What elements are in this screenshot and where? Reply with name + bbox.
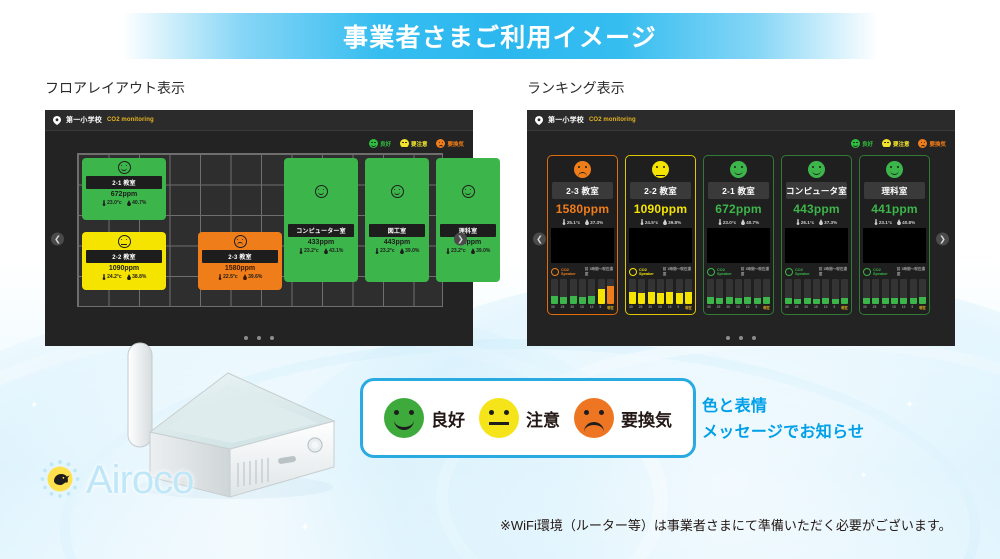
ranking-card[interactable]: コンピュータ室443ppm26.1°c37.3%CO2 Speaker前 1時間…: [781, 155, 852, 315]
chart-bar: [763, 279, 770, 303]
message-line-1: 色と表情: [702, 394, 864, 420]
chart-x-label: 15: [892, 305, 896, 310]
floor-status-legend: 良好 要注意 要換気: [369, 139, 464, 148]
face-legend-ventilate: 要換気: [574, 398, 672, 438]
droplet-icon: [741, 219, 745, 225]
co2-ring-icon: [629, 268, 637, 276]
co2-ring-icon: [707, 268, 715, 276]
chart-x-label: 15: [658, 305, 662, 310]
chart-x-label: 20: [882, 305, 886, 310]
chart-x-label: 15: [814, 305, 818, 310]
ranking-room-name: コンピュータ室: [786, 182, 847, 199]
chart-bar: [598, 279, 605, 303]
room-camera-thumbnail: [551, 228, 614, 263]
room-card-computer[interactable]: コンピューター室 433ppm 23.2°c 43.1%: [284, 158, 358, 282]
ranking-humidity: 39.8%: [663, 219, 681, 225]
chart-x-label: 現在: [685, 305, 692, 310]
panel-header-floor: 第一小学校 CO2 monitoring: [45, 110, 473, 131]
ranking-card[interactable]: 理科室441ppm23.1°c40.8%CO2 Speaker前 1時間～現在濃…: [859, 155, 930, 315]
thermometer-icon: [446, 248, 450, 254]
page-title: 事業者さまご利用イメージ: [343, 18, 657, 54]
chart-x-label: 30: [785, 305, 789, 310]
neutral-face-icon: [400, 139, 409, 148]
room-humidity: 40.7%: [127, 200, 147, 206]
chart-x-label: 30: [863, 305, 867, 310]
room-temperature: 23.2°c: [446, 248, 466, 254]
face-legend-label: 注意: [526, 406, 560, 431]
room-temperature: 23.2°c: [299, 248, 319, 254]
panel-subtitle-rank: CO2 monitoring: [589, 117, 636, 123]
room-camera-thumbnail: [707, 228, 770, 263]
chart-bar: [822, 279, 829, 303]
chart-range-label: 前 1時間～現在濃度: [585, 267, 614, 277]
ranking-humidity: 37.3%: [585, 219, 603, 225]
carousel-dot[interactable]: [752, 336, 756, 340]
smile-face-icon: [808, 161, 825, 178]
chart-bar: [872, 279, 879, 303]
bird-badge-icon: [38, 459, 82, 503]
location-pin-icon: [53, 116, 61, 124]
co2-ring-icon: [785, 268, 793, 276]
thermometer-icon: [102, 274, 106, 280]
room-card-art[interactable]: 図工室 443ppm 23.2°c 39.0%: [365, 158, 429, 282]
room-ppm: 443ppm: [384, 239, 410, 246]
legend-item-good: 良好: [851, 139, 873, 148]
legend-label-caution: 要注意: [411, 140, 428, 148]
carousel-next-rank[interactable]: ❯: [936, 233, 949, 246]
chart-x-label: 15: [736, 305, 740, 310]
legend-label-caution: 要注意: [893, 140, 910, 148]
chart-x-label: 10: [824, 305, 828, 310]
co2-ring-icon: [863, 268, 871, 276]
chart-range-label: 前 1時間～現在濃度: [741, 267, 770, 277]
chart-bar: [832, 279, 839, 303]
ranking-status-legend: 良好 要注意 要換気: [851, 139, 946, 148]
smile-face-icon: [384, 398, 424, 438]
chart-bar: [716, 279, 723, 303]
room-ppm: 1580ppm: [225, 265, 255, 272]
legend-item-good: 良好: [369, 139, 391, 148]
smile-face-icon: [315, 185, 328, 198]
ranking-temperature: 26.1°c: [796, 219, 814, 225]
chart-bar: [744, 279, 751, 303]
chart-x-label: 現在: [841, 305, 848, 310]
room-card-2-3[interactable]: 2-3 教室 1580ppm 22.5°c 39.6%: [198, 232, 282, 290]
chart-range-label: 前 1時間～現在濃度: [897, 267, 926, 277]
chart-bar: [841, 279, 848, 303]
message-line-2: メッセージでお知らせ: [702, 420, 864, 446]
chart-label: CO2 Speaker: [561, 268, 583, 276]
chart-label: CO2 Speaker: [873, 268, 895, 276]
droplet-icon: [897, 219, 901, 225]
chart-bar: [726, 279, 733, 303]
chart-x-label: 20: [648, 305, 652, 310]
room-camera-thumbnail: [785, 228, 848, 263]
chart-x-label: 10: [746, 305, 750, 310]
co2-history-bar-chart: [551, 279, 614, 303]
chart-bar: [638, 279, 645, 303]
droplet-icon: [585, 219, 589, 225]
chart-bar: [882, 279, 889, 303]
room-humidity: 39.0%: [471, 248, 491, 254]
thermometer-icon: [218, 274, 222, 280]
chart-bar: [785, 279, 792, 303]
smile-face-icon: [118, 161, 131, 174]
chart-x-axis: 30252015105現在: [629, 305, 692, 310]
chart-label: CO2 Speaker: [795, 268, 817, 276]
carousel-next-floor[interactable]: ❯: [454, 233, 467, 246]
droplet-icon: [471, 248, 475, 254]
legend-label-ventilate: 要換気: [447, 140, 464, 148]
carousel-prev-floor[interactable]: ❮: [51, 233, 64, 246]
chart-bar: [707, 279, 714, 303]
chart-bar: [579, 279, 586, 303]
chart-x-label: 現在: [607, 305, 614, 310]
ranking-temperature: 25.1°c: [562, 219, 580, 225]
chart-bar: [804, 279, 811, 303]
chart-range-label: 前 1時間～現在濃度: [663, 267, 692, 277]
room-name: 図工室: [369, 224, 425, 237]
panel-header-rank: 第一小学校 CO2 monitoring: [527, 110, 955, 131]
co2-history-bar-chart: [863, 279, 926, 303]
chart-x-label: 20: [570, 305, 574, 310]
room-name: 2-2 教室: [86, 250, 162, 263]
ranking-room-name: 理科室: [864, 182, 925, 199]
chart-bar: [900, 279, 907, 303]
smile-face-icon: [391, 185, 404, 198]
chart-bar: [676, 279, 683, 303]
ranking-ppm-value: 443ppm: [793, 202, 840, 216]
ranking-temperature: 23.0°c: [718, 219, 736, 225]
footer-note: ※WiFi環境（ルーター等）は事業者さまにて準備いただく必要がございます。: [500, 515, 952, 534]
room-humidity: 39.6%: [243, 274, 263, 280]
frown-face-icon: [436, 139, 445, 148]
chart-label: CO2 Speaker: [639, 268, 661, 276]
room-camera-thumbnail: [629, 228, 692, 263]
ranking-humidity: 37.3%: [819, 219, 837, 225]
ranking-humidity: 40.7%: [741, 219, 759, 225]
face-legend-box: 良好 注意 要換気: [360, 378, 696, 458]
floor-panel-body: 良好 要注意 要換気 2-1 教室 672ppm 23.0°c 40.7%: [45, 131, 473, 347]
chart-bar: [629, 279, 636, 303]
room-temperature: 24.2°c: [102, 274, 122, 280]
ranking-room-name: 2-2 教室: [630, 182, 691, 199]
notification-message: 色と表情 メッセージでお知らせ: [702, 394, 864, 446]
location-pin-icon: [535, 116, 543, 124]
room-ppm: 1090ppm: [109, 265, 139, 272]
chart-x-label: 5: [833, 305, 835, 310]
neutral-face-icon: [118, 235, 131, 248]
floor-layout-section-label: フロアレイアウト表示: [45, 78, 185, 98]
chart-x-label: 30: [629, 305, 633, 310]
carousel-prev-rank[interactable]: ❮: [533, 233, 546, 246]
school-name-rank: 第一小学校: [548, 115, 584, 125]
legend-label-good: 良好: [380, 140, 391, 148]
chart-x-label: 30: [707, 305, 711, 310]
chart-x-label: 10: [590, 305, 594, 310]
droplet-icon: [127, 200, 131, 206]
airoco-logo: Airoco: [38, 458, 193, 503]
chart-bar: [648, 279, 655, 303]
chart-range-label: 前 1時間～現在濃度: [819, 267, 848, 277]
room-card-2-1[interactable]: 2-1 教室 672ppm 23.0°c 40.7%: [82, 158, 166, 220]
floor-layout-panel: 第一小学校 CO2 monitoring 良好 要注意 要換気 2-1 教室 6…: [45, 110, 473, 346]
chart-x-label: 20: [726, 305, 730, 310]
ranking-ppm-value: 441ppm: [871, 202, 918, 216]
ranking-room-name: 2-3 教室: [552, 182, 613, 199]
chart-x-axis: 30252015105現在: [785, 305, 848, 310]
room-ppm: 672ppm: [111, 191, 137, 198]
thermometer-icon: [562, 219, 566, 225]
droplet-icon: [663, 219, 667, 225]
smile-face-icon: [730, 161, 747, 178]
chart-x-axis: 30252015105現在: [707, 305, 770, 310]
chart-bar: [588, 279, 595, 303]
room-name: 理科室: [440, 224, 496, 237]
chart-x-label: 25: [561, 305, 565, 310]
co2-ring-icon: [551, 268, 559, 276]
logo-text: Airoco: [86, 458, 193, 503]
ranking-card[interactable]: 2-3 教室1580ppm25.1°c37.3%CO2 Speaker前 1時間…: [547, 155, 618, 315]
ranking-card[interactable]: 2-2 教室1090ppm24.5°c39.8%CO2 Speaker前 1時間…: [625, 155, 696, 315]
chart-bar: [666, 279, 673, 303]
page-title-banner: 事業者さまご利用イメージ: [122, 13, 878, 59]
thermometer-icon: [299, 248, 303, 254]
legend-item-caution: 要注意: [400, 139, 428, 148]
chart-bar: [560, 279, 567, 303]
neutral-face-icon: [882, 139, 891, 148]
smile-face-icon: [369, 139, 378, 148]
chart-bar: [919, 279, 926, 303]
chart-x-label: 10: [902, 305, 906, 310]
face-legend-good: 良好: [384, 398, 465, 438]
neutral-face-icon: [652, 161, 669, 178]
co2-history-bar-chart: [707, 279, 770, 303]
thermometer-icon: [718, 219, 722, 225]
chart-x-label: 10: [668, 305, 672, 310]
frown-face-icon: [574, 161, 591, 178]
room-ppm: 433ppm: [308, 239, 334, 246]
droplet-icon: [324, 248, 328, 254]
ranking-room-name: 2-1 教室: [708, 182, 769, 199]
ranking-panel-body: 良好 要注意 要換気 2-3 教室1580ppm25.1°c37.3%CO2 S…: [527, 131, 955, 347]
ranking-panel: 第一小学校 CO2 monitoring 良好 要注意 要換気 2-3 教室15…: [527, 110, 955, 346]
room-card-2-2[interactable]: 2-2 教室 1090ppm 24.2°c 38.8%: [82, 232, 166, 290]
room-card-science[interactable]: 理科室 443ppm 23.2°c 39.0%: [436, 158, 500, 282]
droplet-icon: [819, 219, 823, 225]
chart-bar: [685, 279, 692, 303]
chart-x-label: 25: [795, 305, 799, 310]
thermometer-icon: [375, 248, 379, 254]
legend-item-ventilate: 要換気: [436, 139, 464, 148]
panel-subtitle-floor: CO2 monitoring: [107, 117, 154, 123]
chart-bar: [910, 279, 917, 303]
chart-bar: [607, 279, 614, 303]
chart-x-label: 30: [551, 305, 555, 310]
room-camera-thumbnail: [863, 228, 926, 263]
chart-bar: [863, 279, 870, 303]
droplet-icon: [243, 274, 247, 280]
chart-x-label: 現在: [919, 305, 926, 310]
ranking-section-label: ランキング表示: [527, 78, 625, 98]
chart-bar: [813, 279, 820, 303]
co2-history-bar-chart: [785, 279, 848, 303]
carousel-dot[interactable]: [739, 336, 743, 340]
chart-bar: [570, 279, 577, 303]
chart-x-label: 25: [639, 305, 643, 310]
room-temperature: 23.2°c: [375, 248, 395, 254]
chart-bar: [754, 279, 761, 303]
legend-label-ventilate: 要換気: [929, 140, 946, 148]
ranking-card-row: 2-3 教室1580ppm25.1°c37.3%CO2 Speaker前 1時間…: [547, 155, 930, 315]
carousel-dots-rank: [527, 336, 955, 340]
thermometer-icon: [102, 200, 106, 206]
room-humidity: 38.8%: [127, 274, 147, 280]
room-name: 2-1 教室: [86, 176, 162, 189]
chart-bar: [657, 279, 664, 303]
legend-item-ventilate: 要換気: [918, 139, 946, 148]
room-temperature: 22.5°c: [218, 274, 238, 280]
smile-face-icon: [886, 161, 903, 178]
floor-grid: 2-1 教室 672ppm 23.0°c 40.7% 2-2 教室 1090pp…: [77, 153, 443, 307]
face-legend-caution: 注意: [479, 398, 560, 438]
chart-x-label: 5: [755, 305, 757, 310]
ranking-card[interactable]: 2-1 教室672ppm23.0°c40.7%CO2 Speaker前 1時間～…: [703, 155, 774, 315]
chart-x-label: 現在: [763, 305, 770, 310]
ranking-humidity: 40.8%: [897, 219, 915, 225]
chart-bar: [794, 279, 801, 303]
chart-x-axis: 30252015105現在: [863, 305, 926, 310]
droplet-icon: [400, 248, 404, 254]
ranking-temperature: 24.5°c: [640, 219, 658, 225]
chart-x-label: 20: [804, 305, 808, 310]
school-name-floor: 第一小学校: [66, 115, 102, 125]
room-humidity: 39.0%: [400, 248, 420, 254]
droplet-icon: [127, 274, 131, 280]
chart-label: CO2 Speaker: [717, 268, 739, 276]
frown-face-icon: [234, 235, 247, 248]
ranking-ppm-value: 672ppm: [715, 202, 762, 216]
chart-bar: [551, 279, 558, 303]
carousel-dot[interactable]: [726, 336, 730, 340]
thermometer-icon: [640, 219, 644, 225]
face-legend-label: 要換気: [621, 406, 672, 431]
chart-x-axis: 30252015105現在: [551, 305, 614, 310]
legend-label-good: 良好: [862, 140, 873, 148]
room-name: コンピューター室: [288, 224, 354, 237]
ranking-ppm-value: 1090ppm: [634, 202, 687, 216]
ranking-temperature: 23.1°c: [874, 219, 892, 225]
legend-item-caution: 要注意: [882, 139, 910, 148]
chart-x-label: 25: [717, 305, 721, 310]
face-legend-label: 良好: [431, 406, 465, 431]
chart-x-label: 25: [873, 305, 877, 310]
thermometer-icon: [796, 219, 800, 225]
frown-face-icon: [918, 139, 927, 148]
room-name: 2-3 教室: [202, 250, 278, 263]
thermometer-icon: [874, 219, 878, 225]
smile-face-icon: [851, 139, 860, 148]
frown-face-icon: [574, 398, 614, 438]
room-temperature: 23.0°c: [102, 200, 122, 206]
co2-history-bar-chart: [629, 279, 692, 303]
smile-face-icon: [462, 185, 475, 198]
neutral-face-icon: [479, 398, 519, 438]
ranking-ppm-value: 1580ppm: [556, 202, 609, 216]
chart-x-label: 5: [599, 305, 601, 310]
chart-bar: [891, 279, 898, 303]
chart-x-label: 5: [911, 305, 913, 310]
chart-x-label: 15: [580, 305, 584, 310]
chart-bar: [735, 279, 742, 303]
room-humidity: 43.1%: [324, 248, 344, 254]
chart-x-label: 5: [677, 305, 679, 310]
